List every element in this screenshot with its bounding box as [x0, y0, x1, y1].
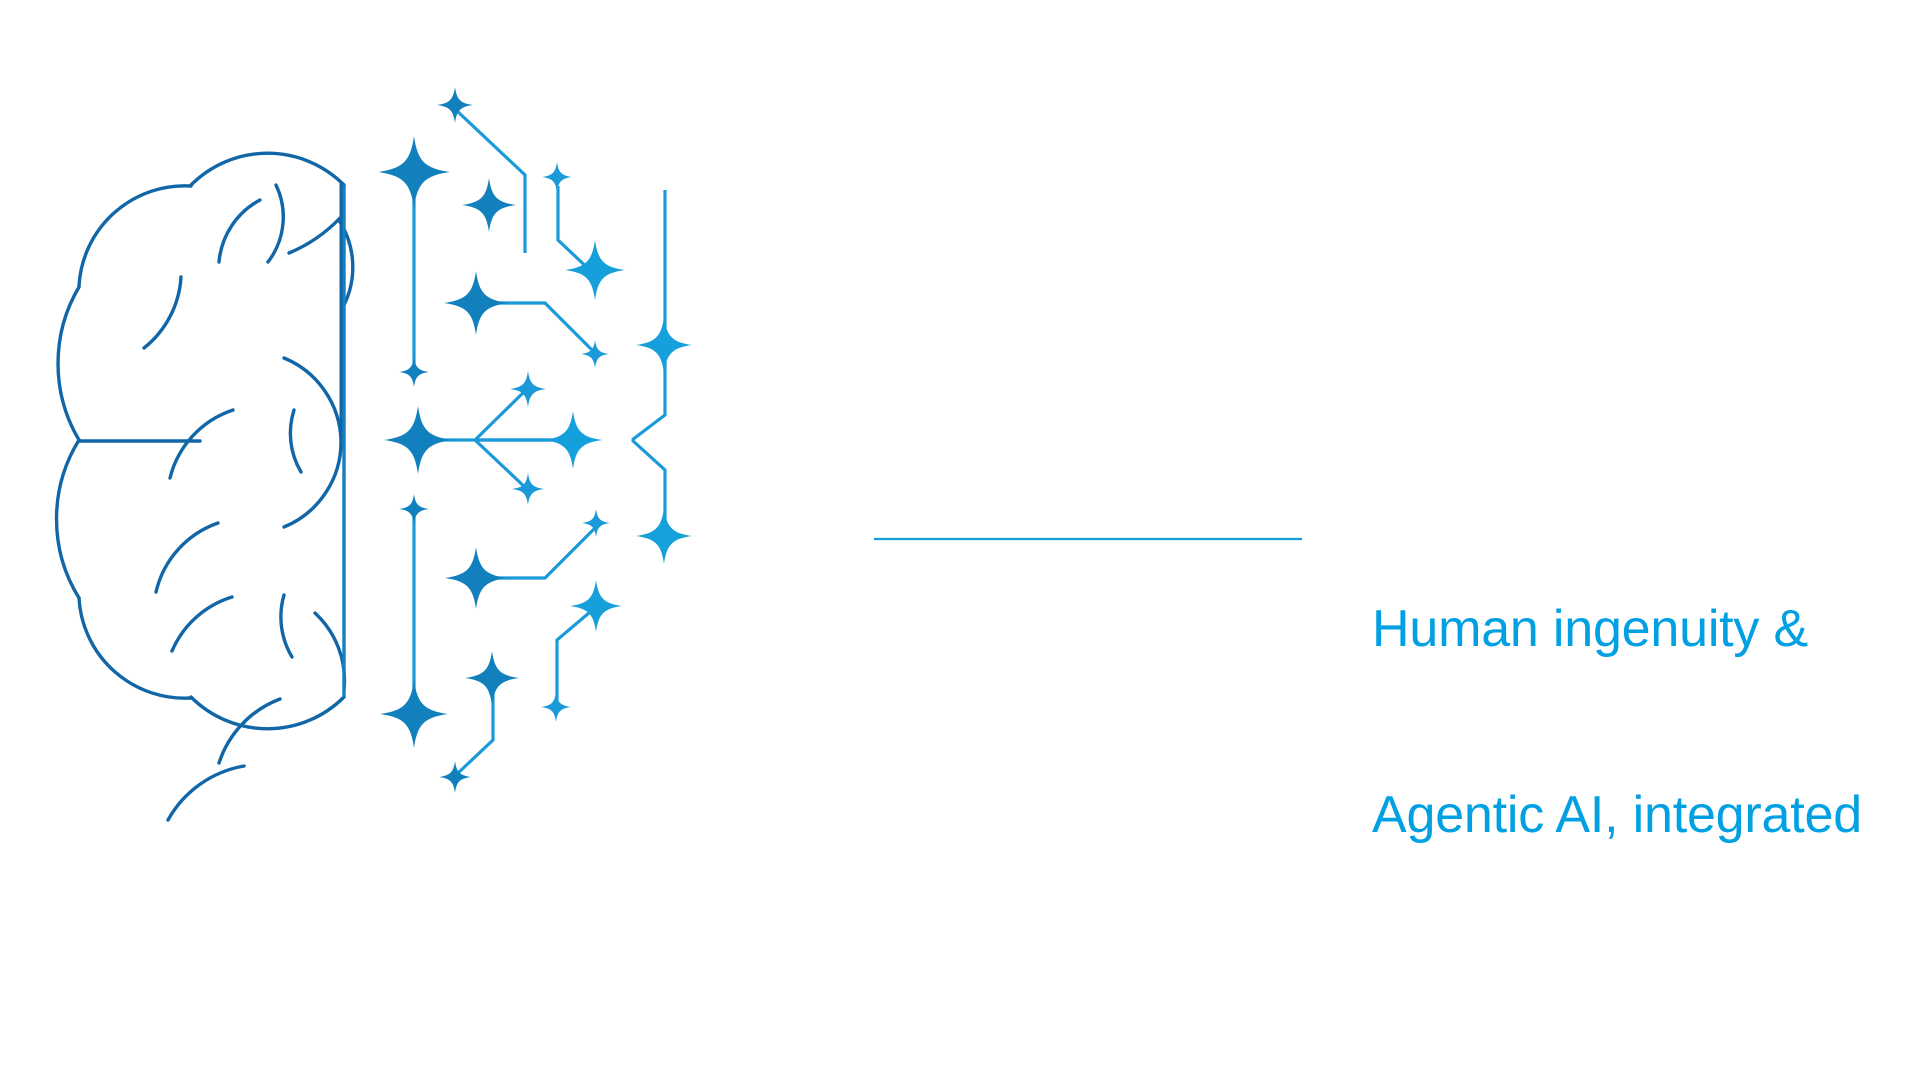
tagline-line-2: Agentic AI, integrated [1372, 784, 1920, 846]
sparkle-star-icon [380, 680, 448, 748]
sparkle-star-icon [465, 651, 519, 705]
brain-spine-icon [341, 182, 344, 697]
sparkle-star-icon [378, 136, 450, 208]
brain-outline-icon [57, 153, 353, 820]
tagline-line-1: Human ingenuity & [1372, 598, 1920, 660]
sparkle-star-icon [399, 494, 429, 524]
sparkle-star-icon [541, 692, 571, 722]
sparkle-star-icon [565, 240, 625, 300]
sparkle-star-icon [636, 508, 692, 564]
sparkle-star-icon [384, 406, 452, 474]
tagline: Human ingenuity & Agentic AI, integrated [1372, 474, 1920, 970]
sparkle-star-icon [582, 509, 610, 537]
sparkle-star-icon [462, 178, 516, 232]
slide-canvas: Human ingenuity & Agentic AI, integrated [0, 0, 1920, 1080]
sparkle-star-icon [542, 162, 572, 192]
sparkle-star-icon [544, 411, 602, 469]
neural-connector-lines [414, 110, 665, 774]
sparkle-star-icon [399, 357, 429, 387]
sparkle-star-icon [444, 271, 508, 335]
sparkle-star-icon [445, 547, 507, 609]
sparkle-star-icon [636, 317, 692, 373]
sparkle-star-icon [437, 87, 473, 123]
